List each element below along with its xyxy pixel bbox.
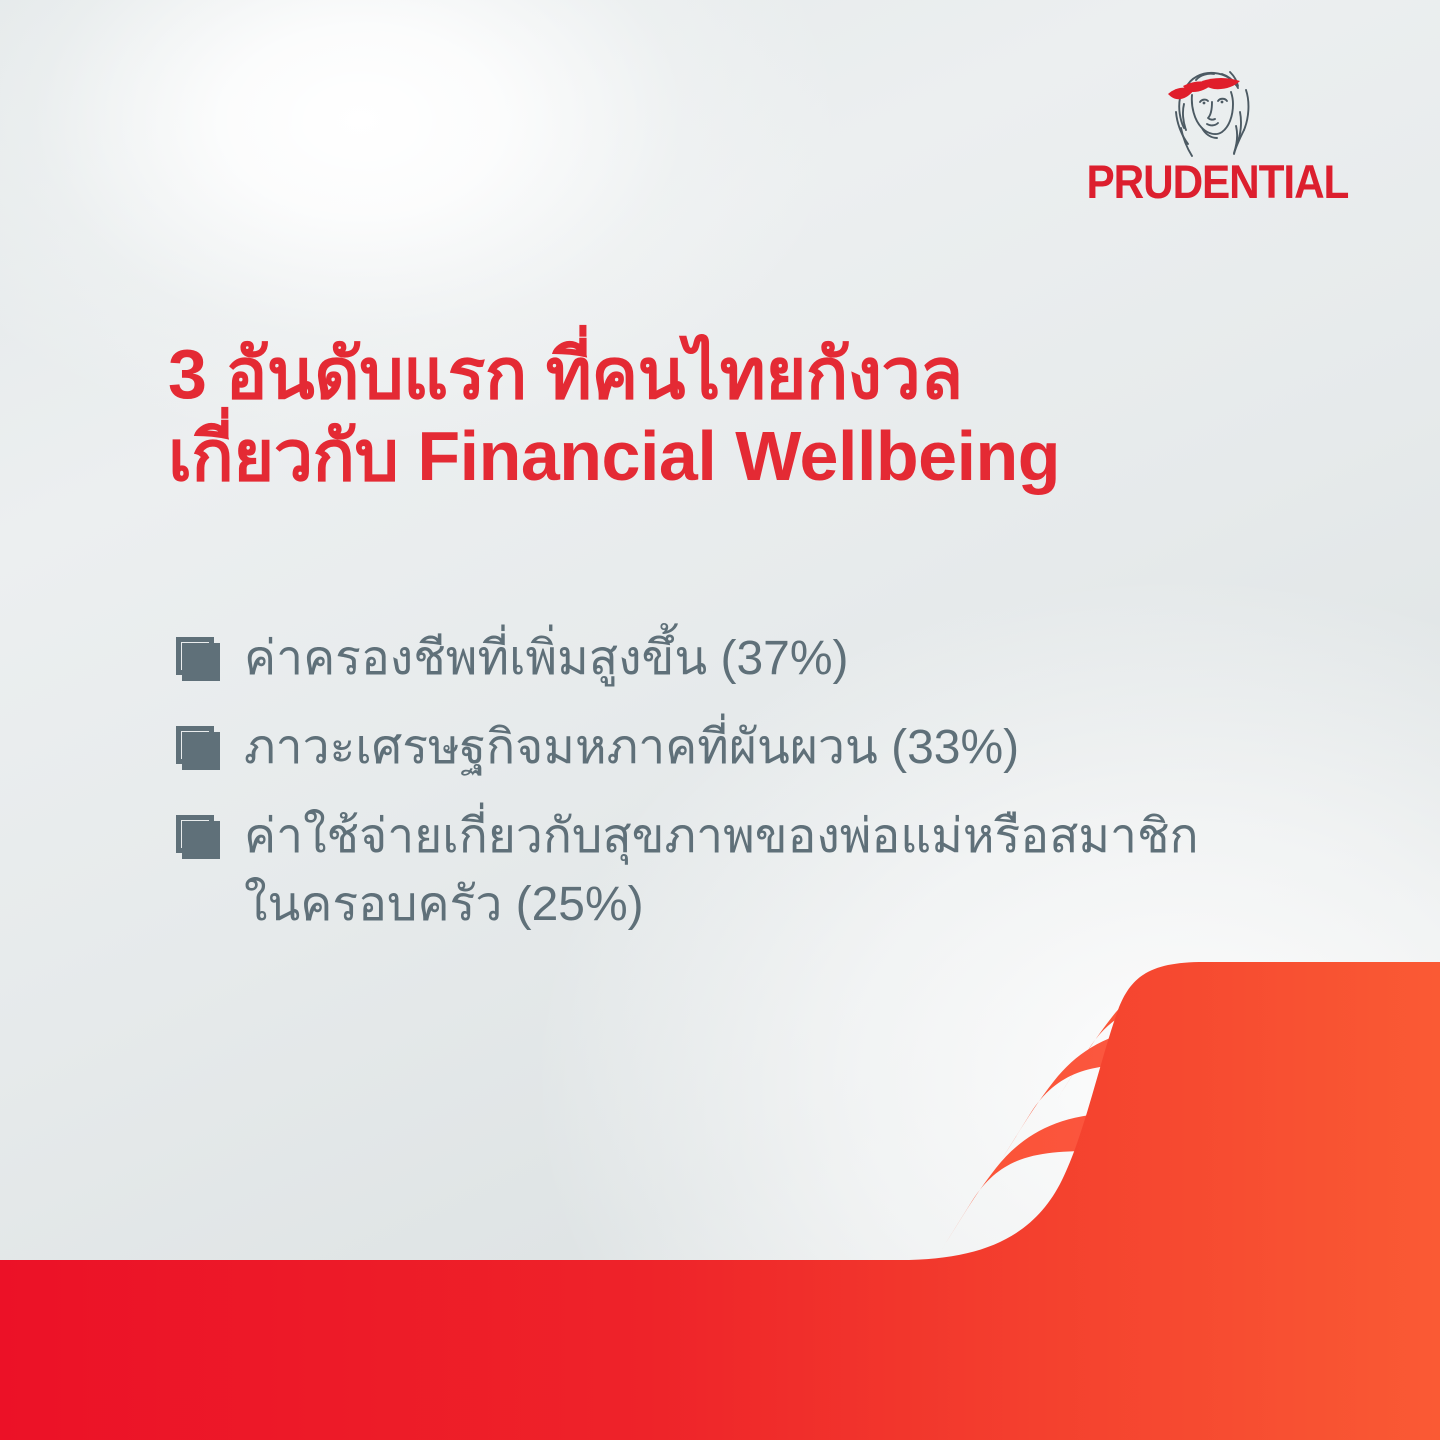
list-item: ค่าใช้จ่ายเกี่ยวกับสุขภาพของพ่อแม่หรือสม… [176, 803, 1236, 939]
prudence-face-icon [1150, 68, 1270, 158]
ribbon-band-middle [1000, 1026, 1440, 1162]
page-title: 3 อันดับแรก ที่คนไทยกังวล เกี่ยวกับ Fina… [168, 333, 1178, 497]
checkbox-square-icon [176, 726, 220, 772]
poster-canvas: PRUDENTIAL 3 อันดับแรก ที่คนไทยกังวล เกี… [0, 0, 1440, 1440]
prudential-wordmark: PRUDENTIAL [1087, 158, 1348, 205]
checkbox-square-icon [176, 815, 220, 861]
orange-glow-dot [1240, 1106, 1292, 1158]
headline-line-1: 3 อันดับแรก ที่คนไทยกังวล [168, 333, 1178, 415]
list-item-label: ค่าครองชีพที่เพิ่มสูงขึ้น (37%) [244, 625, 849, 693]
ribbon-band-bottom [942, 1113, 1440, 1249]
list-item: ภาวะเศรษฐกิจมหภาคที่ผันผวน (33%) [176, 714, 1236, 782]
list-item-label: ค่าใช้จ่ายเกี่ยวกับสุขภาพของพ่อแม่หรือสม… [244, 803, 1236, 939]
prudential-logo: PRUDENTIAL [1072, 68, 1362, 203]
checkbox-square-icon [176, 637, 220, 683]
green-glow-dot [1380, 1019, 1432, 1071]
headline-line-2: เกี่ยวกับ Financial Wellbeing [168, 415, 1178, 497]
concerns-list: ค่าครองชีพที่เพิ่มสูงขึ้น (37%) ภาวะเศรษ… [176, 625, 1236, 960]
ribbon-band-top [1058, 962, 1440, 1098]
list-item-label: ภาวะเศรษฐกิจมหภาคที่ผันผวน (33%) [244, 714, 1019, 782]
list-item: ค่าครองชีพที่เพิ่มสูงขึ้น (37%) [176, 625, 1236, 693]
bottom-red-wave [0, 962, 1440, 1440]
